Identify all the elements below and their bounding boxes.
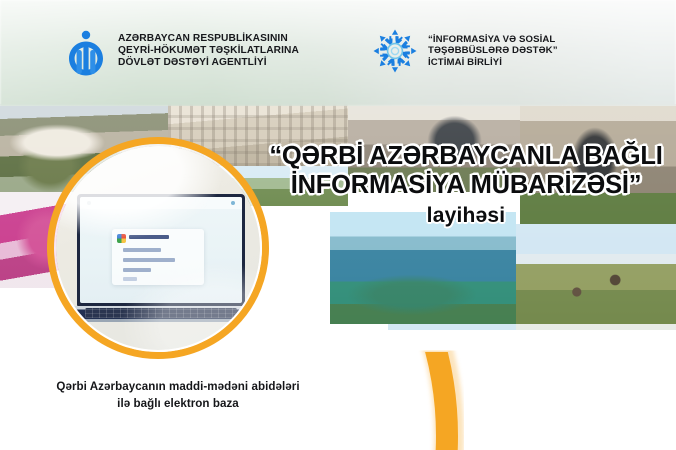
caption-line-1: Qərbi Azərbaycanın maddi-mədəni abidələr… <box>18 379 338 396</box>
poster-root: “QƏRBİ AZƏRBAYCANLA BAĞLI İNFORMASİYA MÜ… <box>0 0 676 450</box>
title-line-2: İNFORMASİYA MÜBARİZƏSİ” <box>264 171 668 200</box>
title-subtitle: layihəsi <box>264 204 668 228</box>
lens-inner-ring <box>54 144 262 352</box>
ngo-logo-block: “İNFORMASİYA VƏ SOSİAL TƏŞƏBBÜSLƏRƏ DƏST… <box>371 27 558 75</box>
caption-line-2: ilə bağlı elektron baza <box>18 396 338 413</box>
blue-lake-photo <box>330 212 516 324</box>
title-line-1: “QƏRBİ AZƏRBAYCANLA BAĞLI <box>264 142 668 171</box>
ngo-line-1: “İNFORMASİYA VƏ SOSİAL <box>428 34 558 45</box>
header-band: AZƏRBAYCAN RESPUBLİKASININ QEYRİ-HÖKUMƏT… <box>0 0 676 106</box>
agency-circular-emblem-icon <box>63 26 109 76</box>
ngo-line-2: TƏŞƏBBÜSLƏRƏ DƏSTƏK” <box>428 45 558 56</box>
agency-line-3: DÖVLƏT DƏSTƏYİ AGENTLİYİ <box>118 57 299 69</box>
ngo-line-3: İCTİMAİ BİRLİYİ <box>428 57 558 68</box>
ngo-star-rosette-icon <box>371 27 419 75</box>
caption-block: Qərbi Azərbaycanın maddi-mədəni abidələr… <box>18 379 338 413</box>
agency-logo-block: AZƏRBAYCAN RESPUBLİKASININ QEYRİ-HÖKUMƏT… <box>63 26 299 76</box>
ngo-logo-text: “İNFORMASİYA VƏ SOSİAL TƏŞƏBBÜSLƏRƏ DƏST… <box>428 34 558 68</box>
magnifier-lens <box>47 137 269 359</box>
agency-line-1: AZƏRBAYCAN RESPUBLİKASININ <box>118 33 299 45</box>
project-title: “QƏRBİ AZƏRBAYCANLA BAĞLI İNFORMASİYA MÜ… <box>264 142 668 228</box>
cemetery-field-photo <box>516 224 676 324</box>
agency-logo-text: AZƏRBAYCAN RESPUBLİKASININ QEYRİ-HÖKUMƏT… <box>118 33 299 69</box>
agency-line-2: QEYRİ-HÖKUMƏT TƏŞKİLATLARINA <box>118 45 299 57</box>
